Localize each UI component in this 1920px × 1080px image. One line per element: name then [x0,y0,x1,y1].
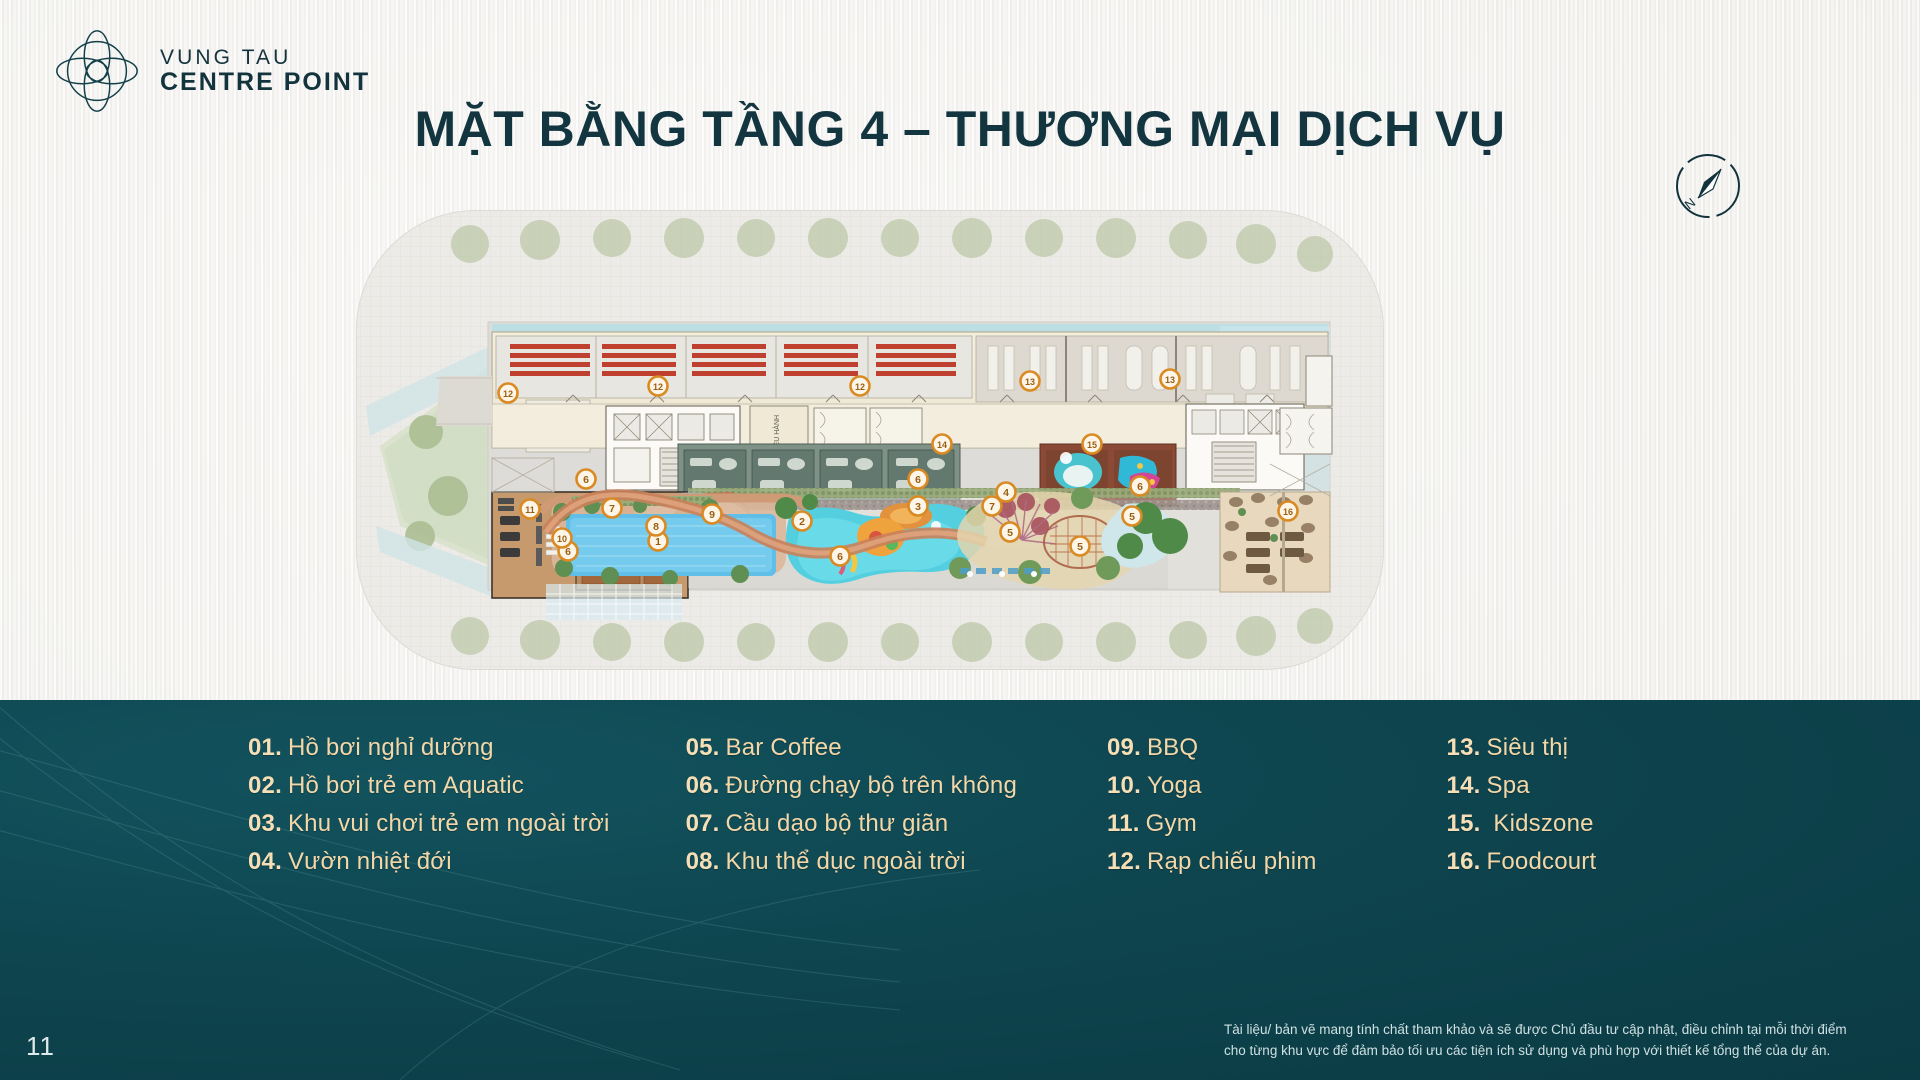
legend-number: 07. [686,810,720,837]
disclaimer-line-2: cho từng khu vực để đảm bảo tối ưu các t… [1224,1041,1884,1062]
plan-marker-7[interactable]: 7 [983,497,1002,516]
plan-marker-label: 14 [937,440,947,450]
legend-number: 14. [1447,772,1481,799]
legend-item[interactable]: 16.Foodcourt [1447,848,1597,876]
legend-item[interactable]: 12.Rạp chiếu phim [1107,848,1317,876]
plan-marker-12[interactable]: 12 [851,377,870,396]
bottom-paving [546,584,682,620]
plan-marker-6[interactable]: 6 [831,547,850,566]
foodcourt-block [1220,492,1330,592]
legend-number: 11. [1107,810,1140,837]
plan-marker-13[interactable]: 13 [1021,372,1040,391]
legend-number: 16. [1447,848,1481,875]
legend-label: Foodcourt [1487,848,1597,875]
legend-number: 13. [1447,734,1481,761]
legend-number: 03. [248,810,282,837]
plan-marker-3[interactable]: 3 [909,497,928,516]
floor-plan-svg: PHÒNG ĐIỀU HÀNH [150,196,1590,686]
legend-number: 01. [248,734,282,761]
legend-label: Khu thể dục ngoài trời [726,848,966,875]
plan-marker-label: 3 [915,501,921,513]
legend-number: 10. [1107,772,1141,799]
legend-label: Gym [1146,810,1197,837]
plan-marker-5[interactable]: 5 [1123,507,1142,526]
plan-marker-label: 13 [1165,375,1175,385]
legend-label: Siêu thị [1487,734,1569,761]
plan-marker-11[interactable]: 11 [521,500,540,519]
legend-number: 05. [686,734,720,761]
legend-number: 12. [1107,848,1141,875]
legend-number: 09. [1107,734,1141,761]
plan-marker-label: 12 [855,382,865,392]
legend-label: Hồ bơi trẻ em Aquatic [288,772,524,799]
plan-marker-label: 5 [1129,511,1135,523]
page-title: MẶT BẰNG TẦNG 4 – THƯƠNG MẠI DỊCH VỤ [0,100,1920,158]
amenity-legend: 01.Hồ bơi nghỉ dưỡng 02.Hồ bơi trẻ em Aq… [0,734,1920,876]
plan-marker-label: 5 [1007,527,1013,539]
legend-item[interactable]: 14.Spa [1447,772,1597,800]
legend-item[interactable]: 02.Hồ bơi trẻ em Aquatic [248,772,610,800]
legend-label: Khu vui chơi trẻ em ngoài trời [288,810,610,837]
plan-marker-label: 16 [1283,507,1293,517]
plan-marker-label: 8 [653,521,659,533]
plan-marker-label: 11 [525,505,535,515]
plan-marker-label: 7 [609,503,615,515]
legend-item[interactable]: 07.Cầu dạo bộ thư giãn [686,810,1017,838]
plan-marker-label: 4 [1003,487,1009,499]
floor-plan-image[interactable]: PHÒNG ĐIỀU HÀNH [150,196,1590,686]
plan-marker-label: 9 [709,509,715,521]
plan-marker-9[interactable]: 9 [703,505,722,524]
compass-north-label: N [1682,195,1699,213]
legend-item[interactable]: 09.BBQ [1107,734,1317,762]
legend-label: Rạp chiếu phim [1147,848,1317,875]
plan-marker-14[interactable]: 14 [933,435,952,454]
plan-marker-label: 2 [799,516,805,528]
legend-label: Yoga [1147,772,1202,799]
plan-marker-5[interactable]: 5 [1001,523,1020,542]
legend-item[interactable]: 15. Kidszone [1447,810,1597,838]
plan-marker-6[interactable]: 6 [1131,477,1150,496]
plan-marker-label: 6 [837,551,843,563]
legend-item[interactable]: 05.Bar Coffee [686,734,1017,762]
footer-legend-band: 01.Hồ bơi nghỉ dưỡng 02.Hồ bơi trẻ em Aq… [0,700,1920,1080]
legend-label: Vườn nhiệt đới [288,848,452,875]
brand-line-2: CENTRE POINT [160,69,370,96]
supermarket-shelving [976,336,1328,404]
plan-marker-label: 1 [655,536,661,548]
slide-root: VUNG TAU CENTRE POINT MẶT BẰNG TẦNG 4 – … [0,0,1920,1080]
plan-marker-5[interactable]: 5 [1071,537,1090,556]
plan-marker-10[interactable]: 10 [553,529,572,548]
legend-label: Đường chạy bộ trên không [726,772,1017,799]
plan-marker-label: 10 [557,534,567,544]
legend-item[interactable]: 01.Hồ bơi nghỉ dưỡng [248,734,610,762]
disclaimer-line-1: Tài liệu/ bản vẽ mang tính chất tham khả… [1224,1020,1884,1041]
legend-label: Bar Coffee [726,734,842,761]
legend-column-3: 09.BBQ 10.Yoga 11.Gym 12.Rạp chiếu phim [1107,734,1317,876]
legend-number: 15. [1447,810,1481,837]
legend-column-2: 05.Bar Coffee 06.Đường chạy bộ trên khôn… [686,734,1017,876]
plan-marker-label: 6 [915,474,921,486]
plan-marker-label: 5 [1077,541,1083,553]
compass-rose-icon: N [1668,146,1748,226]
legend-item[interactable]: 10.Yoga [1107,772,1317,800]
legend-label: BBQ [1147,734,1198,761]
legend-label: Hồ bơi nghỉ dưỡng [288,734,494,761]
plan-marker-label: 15 [1087,440,1097,450]
plan-marker-15[interactable]: 15 [1083,435,1102,454]
legend-number: 02. [248,772,282,799]
plan-marker-label: 6 [1137,481,1143,493]
legend-label: Spa [1487,772,1530,799]
legend-item[interactable]: 06.Đường chạy bộ trên không [686,772,1017,800]
legend-item[interactable]: 04.Vườn nhiệt đới [248,848,610,876]
plan-marker-12[interactable]: 12 [649,377,668,396]
legend-item[interactable]: 11.Gym [1107,810,1317,838]
disclaimer-text: Tài liệu/ bản vẽ mang tính chất tham khả… [1224,1020,1884,1062]
page-number: 11 [26,1031,55,1062]
brand-wordmark: VUNG TAU CENTRE POINT [160,47,370,96]
plan-marker-label: 12 [653,382,663,392]
plan-marker-13[interactable]: 13 [1161,370,1180,389]
legend-number: 04. [248,848,282,875]
plan-marker-label: 6 [583,474,589,486]
legend-number: 08. [686,848,720,875]
plan-marker-label: 7 [989,501,995,513]
legend-label: Kidszone [1487,810,1594,837]
legend-column-4: 13.Siêu thị 14.Spa 15. Kidszone 16.Foodc… [1447,734,1597,876]
legend-label: Cầu dạo bộ thư giãn [726,810,949,837]
plan-marker-7[interactable]: 7 [603,499,622,518]
brand-line-1: VUNG TAU [160,47,370,69]
legend-number: 06. [686,772,720,799]
plan-marker-12[interactable]: 12 [499,384,518,403]
legend-item[interactable]: 03.Khu vui chơi trẻ em ngoài trời [248,810,610,838]
plan-marker-16[interactable]: 16 [1279,502,1298,521]
plan-marker-8[interactable]: 8 [647,517,666,536]
plan-marker-6[interactable]: 6 [577,470,596,489]
plan-marker-2[interactable]: 2 [793,512,812,531]
legend-item[interactable]: 13.Siêu thị [1447,734,1597,762]
plan-marker-6[interactable]: 6 [909,470,928,489]
plan-marker-label: 12 [503,389,513,399]
legend-item[interactable]: 08.Khu thể dục ngoài trời [686,848,1017,876]
plan-marker-label: 13 [1025,377,1035,387]
legend-column-1: 01.Hồ bơi nghỉ dưỡng 02.Hồ bơi trẻ em Aq… [248,734,610,876]
